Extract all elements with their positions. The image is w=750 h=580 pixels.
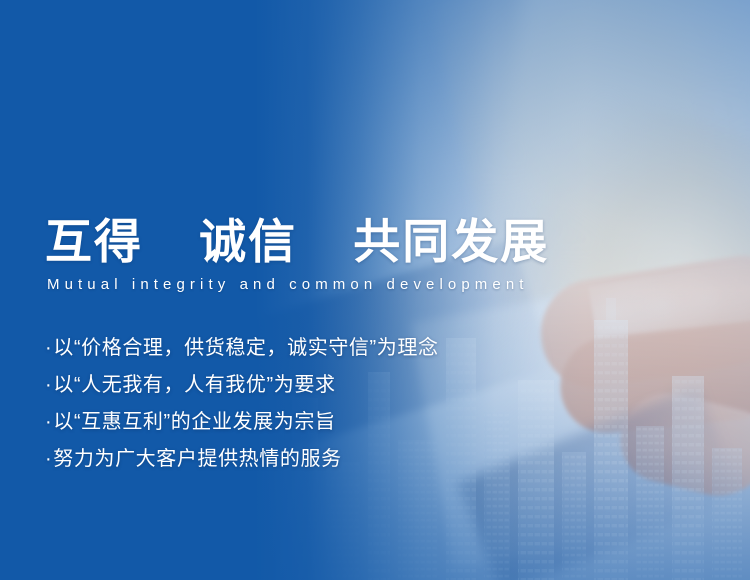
- list-item-label: 以“人无我有，人有我优”为要求: [53, 374, 335, 396]
- bullet-marker-icon: ·: [45, 374, 52, 396]
- list-item-label: 以“互惠互利”的企业发展为宗旨: [53, 411, 335, 433]
- bullet-marker-icon: ·: [45, 411, 52, 433]
- bullet-marker-icon: ·: [45, 337, 52, 359]
- list-item: ·以“人无我有，人有我优”为要求: [45, 367, 439, 404]
- banner-content: 互得 诚信 共同发展 Mutual integrity and common d…: [0, 0, 750, 580]
- list-item: ·努力为广大客户提供热情的服务: [45, 441, 439, 478]
- headline-part-1: 互得: [45, 215, 143, 268]
- list-item: ·以“价格合理，供货稳定，诚实守信”为理念: [45, 330, 439, 367]
- headline-part-2: 诚信: [199, 215, 297, 268]
- promotional-banner: 互得 诚信 共同发展 Mutual integrity and common d…: [0, 0, 750, 580]
- list-item-label: 以“价格合理，供货稳定，诚实守信”为理念: [53, 337, 438, 359]
- headline: 互得 诚信 共同发展: [45, 218, 549, 265]
- headline-part-3: 共同发展: [353, 215, 549, 268]
- list-item: ·以“互惠互利”的企业发展为宗旨: [45, 404, 439, 441]
- bullet-marker-icon: ·: [45, 448, 52, 470]
- list-item-label: 努力为广大客户提供热情的服务: [53, 448, 341, 470]
- subheadline: Mutual integrity and common development: [47, 276, 529, 293]
- value-proposition-list: ·以“价格合理，供货稳定，诚实守信”为理念 ·以“人无我有，人有我优”为要求 ·…: [45, 330, 439, 478]
